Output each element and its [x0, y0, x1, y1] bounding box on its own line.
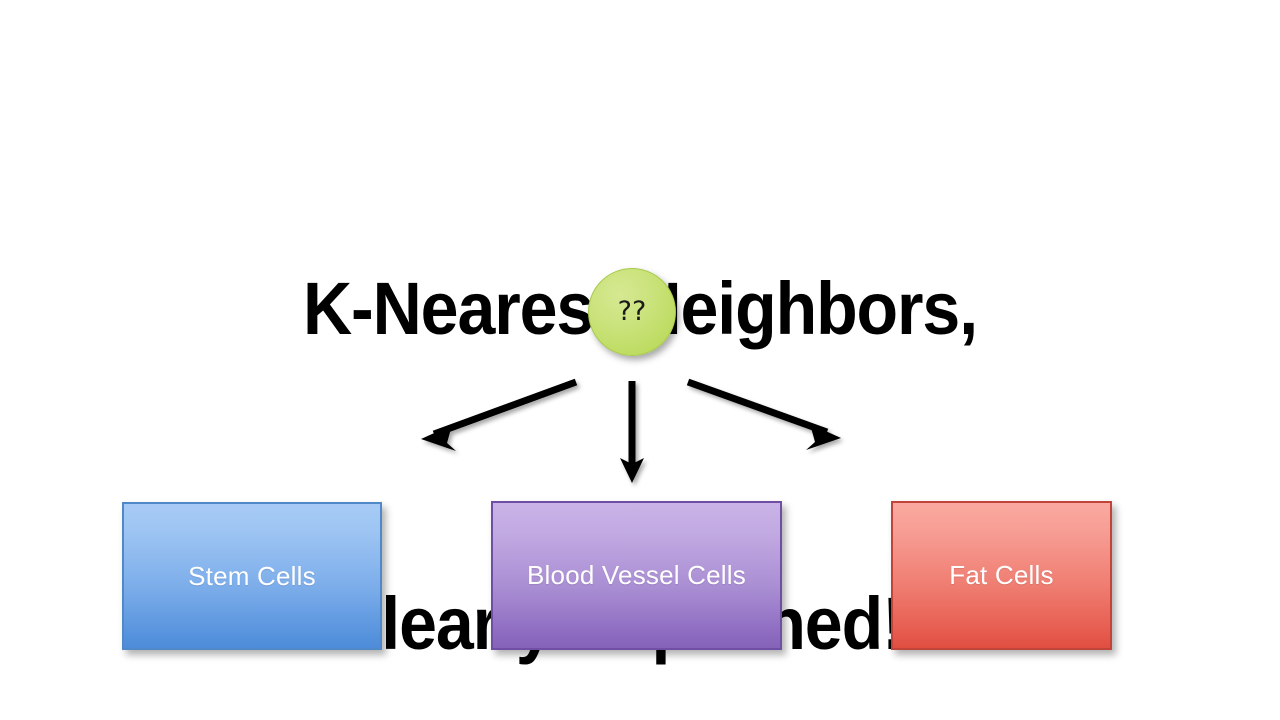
slide-canvas: K-Nearest Neighbors, Clearly Explained!!…	[0, 0, 1280, 720]
root-node-label: ??	[618, 298, 647, 325]
category-label-blood-vessel-cells: Blood Vessel Cells	[527, 560, 746, 591]
root-node-unknown[interactable]: ??	[588, 268, 676, 356]
category-label-fat-cells: Fat Cells	[949, 560, 1053, 591]
category-box-fat-cells[interactable]: Fat Cells	[891, 501, 1112, 650]
category-box-blood-vessel-cells[interactable]: Blood Vessel Cells	[491, 501, 782, 650]
category-label-stem-cells: Stem Cells	[188, 561, 316, 592]
category-box-stem-cells[interactable]: Stem Cells	[122, 502, 382, 650]
